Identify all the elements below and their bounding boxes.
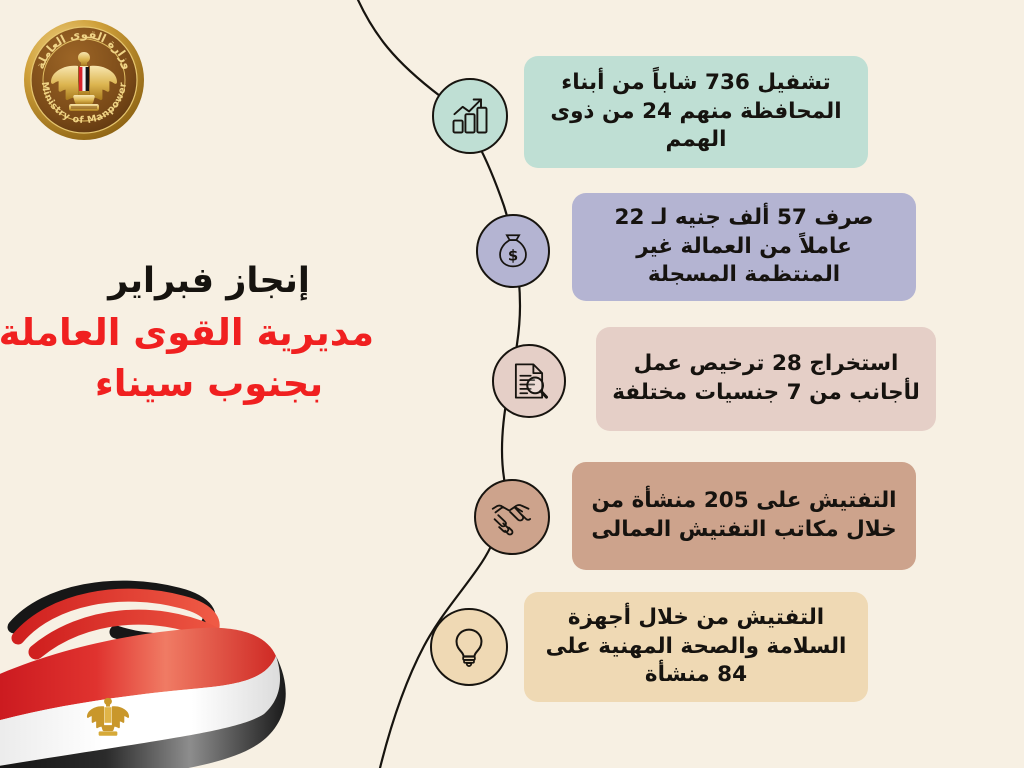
node-work-permits[interactable] [492,344,566,418]
node-occupational-safety[interactable] [430,608,508,686]
egypt-flag-icon [0,572,306,768]
node-payments[interactable]: $ [476,214,550,288]
card-labour-inspection-text: التفتيش على 205 منشأة من خلال مكاتب التف… [586,487,902,545]
ministry-logo: وزارة القوى العاملة Ministry of Manpower [22,18,146,142]
egypt-flag-graphic [0,572,306,768]
card-employment-text: تشفيل 736 شاباً من أبناء المحافظة منهم 2… [538,69,854,155]
headline-month: إنجاز فبراير [44,262,374,302]
svg-text:$: $ [508,247,518,265]
handshake-icon [490,495,534,539]
bar-chart-growth-icon [448,94,492,138]
headline-directorate: مديرية القوى العاملة [44,309,374,356]
headline-block: إنجاز فبراير مديرية القوى العاملة بجنوب … [44,262,374,408]
card-work-permits-text: استخراج 28 ترخيص عمل لأجانب من 7 جنسيات … [610,350,922,408]
card-payments-text: صرف 57 ألف جنيه لـ 22 عاملاً من العمالة … [586,204,902,290]
card-occupational-safety: التفتيش من خلال أجهزة السلامة والصحة الم… [524,592,868,702]
light-bulb-icon [447,625,491,669]
infographic-canvas: وزارة القوى العاملة Ministry of Manpower [0,0,1024,768]
ministry-logo-icon: وزارة القوى العاملة Ministry of Manpower [22,18,146,142]
card-labour-inspection: التفتيش على 205 منشأة من خلال مكاتب التف… [572,462,916,570]
node-employment[interactable] [432,78,508,154]
document-search-icon [508,360,550,402]
card-employment: تشفيل 736 شاباً من أبناء المحافظة منهم 2… [524,56,868,168]
card-payments: صرف 57 ألف جنيه لـ 22 عاملاً من العمالة … [572,193,916,301]
node-labour-inspection[interactable] [474,479,550,555]
money-bag-icon: $ [492,230,534,272]
card-work-permits: استخراج 28 ترخيص عمل لأجانب من 7 جنسيات … [596,327,936,431]
card-occupational-safety-text: التفتيش من خلال أجهزة السلامة والصحة الم… [538,604,854,690]
headline-governorate: بجنوب سيناء [44,360,374,407]
